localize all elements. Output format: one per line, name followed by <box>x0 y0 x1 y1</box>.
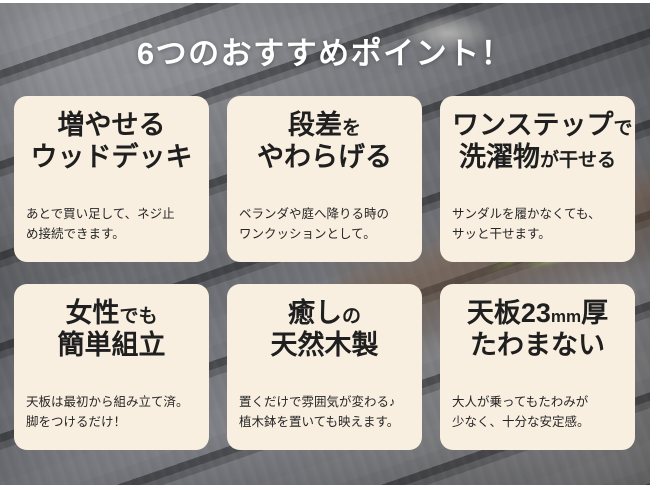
card-title-line: たわまない <box>452 330 623 362</box>
feature-card-grid: 増やせるウッドデッキあとで買い足して、ネジ止め接続できます。段差をやわらげるベラ… <box>14 96 636 450</box>
card-title-segment: 簡単組立 <box>58 330 166 360</box>
card-title-line: 天然木製 <box>239 330 410 362</box>
card-title-segment: の <box>342 306 361 327</box>
card-body: 大人が乗ってもたわみが少なく、十分な安定感。 <box>452 392 623 441</box>
card-title-line: 天板23mm厚 <box>452 298 623 330</box>
card-title-segment: ウッドデッキ <box>31 142 193 172</box>
card-body-line: め接続できます。 <box>26 224 197 244</box>
card-title-line: 女性でも <box>26 298 197 330</box>
card-title-segment: やわらげる <box>257 142 392 172</box>
card-title-line: 癒しの <box>239 298 410 330</box>
card-body-line: 植木鉢を置いても映えます。 <box>239 412 410 432</box>
promo-banner: 6つのおすすめポイント！ 増やせるウッドデッキあとで買い足して、ネジ止め接続でき… <box>0 0 650 500</box>
card-title-segment: が干せる <box>540 150 616 171</box>
card-title-segment: 洗濯物 <box>459 142 540 172</box>
card-title: 増やせるウッドデッキ <box>26 110 197 174</box>
card-one-step-laundry: ワンステップで洗濯物が干せるサンダルを履かなくても、サッと干せます。 <box>440 96 635 262</box>
card-title-line: 段差を <box>239 110 410 142</box>
card-title: 天板23mm厚たわまない <box>452 298 623 362</box>
card-title: 段差をやわらげる <box>239 110 410 174</box>
card-title-segment: 天板23 <box>467 298 551 328</box>
card-title-line: 簡単組立 <box>26 330 197 362</box>
card-body-line: サッと干せます。 <box>452 224 623 244</box>
card-body: ベランダや庭へ降りる時のワンクッションとして。 <box>239 204 410 253</box>
card-title-segment: でも <box>119 306 157 327</box>
card-step-softener: 段差をやわらげるベランダや庭へ降りる時のワンクッションとして。 <box>227 96 422 262</box>
card-body-line: 脚をつけるだけ！ <box>26 412 197 432</box>
card-title-segment: を <box>342 118 361 139</box>
card-title-line: やわらげる <box>239 142 410 174</box>
card-body-line: ベランダや庭へ降りる時の <box>239 204 410 224</box>
page-title: 6つのおすすめポイント！ <box>0 38 650 69</box>
card-body-line: 少なく、十分な安定感。 <box>452 412 623 432</box>
card-title-segment: たわまない <box>470 330 605 360</box>
card-title-segment: 天然木製 <box>271 330 379 360</box>
card-body: あとで買い足して、ネジ止め接続できます。 <box>26 204 197 253</box>
card-title-segment: 女性 <box>65 298 119 328</box>
card-easy-assembly: 女性でも簡単組立天板は最初から組み立て済。脚をつけるだけ！ <box>14 284 209 450</box>
bottom-white-band <box>0 485 650 500</box>
card-title-segment: 癒し <box>288 298 342 328</box>
card-title: 癒しの天然木製 <box>239 298 410 362</box>
card-body-line: 置くだけで雰囲気が変わる♪ <box>239 392 410 412</box>
card-title-segment: mm <box>551 307 581 326</box>
card-title: ワンステップで洗濯物が干せる <box>452 110 623 174</box>
card-title-segment: 段差 <box>288 110 342 140</box>
card-expandable-deck: 増やせるウッドデッキあとで買い足して、ネジ止め接続できます。 <box>14 96 209 262</box>
card-body-line: あとで買い足して、ネジ止 <box>26 204 197 224</box>
card-title-line: ウッドデッキ <box>26 142 197 174</box>
card-title-segment: 厚 <box>581 298 608 328</box>
top-white-band <box>0 0 650 3</box>
card-natural-wood: 癒しの天然木製置くだけで雰囲気が変わる♪植木鉢を置いても映えます。 <box>227 284 422 450</box>
card-body: 置くだけで雰囲気が変わる♪植木鉢を置いても映えます。 <box>239 392 410 441</box>
card-title-segment: ワンステップ <box>452 110 613 140</box>
card-body-line: 天板は最初から組み立て済。 <box>26 392 197 412</box>
card-title-line: 洗濯物が干せる <box>452 142 623 174</box>
card-body-line: ワンクッションとして。 <box>239 224 410 244</box>
card-body: サンダルを履かなくても、サッと干せます。 <box>452 204 623 253</box>
card-body-line: 大人が乗ってもたわみが <box>452 392 623 412</box>
card-title-line: 増やせる <box>26 110 197 142</box>
card-thick-top-panel: 天板23mm厚たわまない大人が乗ってもたわみが少なく、十分な安定感。 <box>440 284 635 450</box>
card-title-segment: 増やせる <box>58 110 166 140</box>
card-title-segment: で <box>613 118 632 139</box>
card-body: 天板は最初から組み立て済。脚をつけるだけ！ <box>26 392 197 441</box>
card-title: 女性でも簡単組立 <box>26 298 197 362</box>
card-body-line: サンダルを履かなくても、 <box>452 204 623 224</box>
card-title-line: ワンステップで <box>452 110 623 142</box>
